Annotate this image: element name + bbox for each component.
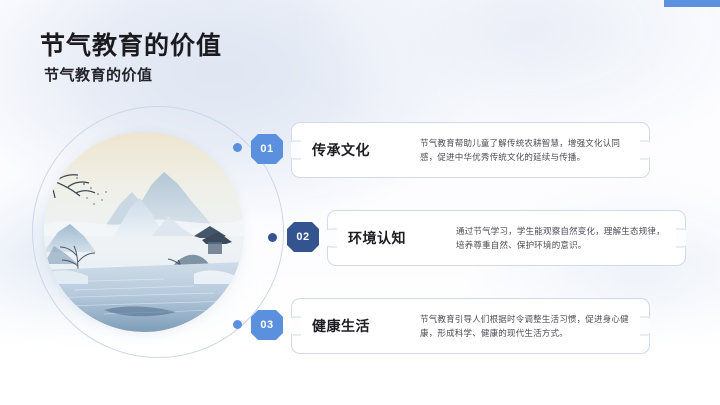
item-number-badge-01: 01 xyxy=(251,134,283,164)
connector-dot-03 xyxy=(233,320,242,329)
value-card-huanjing-renzhi[interactable]: 环境认知通过节气学习，学生能观察自然变化，理解生态规律，培养尊重自然、保护环境的… xyxy=(327,210,686,266)
value-card-chuancheng-wenhua[interactable]: 传承文化节气教育帮助儿童了解传统农耕智慧，增强文化认同感，促进中华优秀传统文化的… xyxy=(291,122,650,178)
value-card-body: 通过节气学习，学生能观察自然变化，理解生态规律，培养尊重自然、保护环境的意识。 xyxy=(456,224,668,252)
item-number-badge-02: 02 xyxy=(287,222,319,252)
value-card-body: 节气教育引导人们根据时令调整生活习惯，促进身心健康，形成科学、健康的现代生活方式… xyxy=(420,312,632,340)
cloud-wash-right xyxy=(420,150,720,405)
value-card-title: 环境认知 xyxy=(348,228,406,248)
page-title: 节气教育的价值 xyxy=(40,26,222,62)
slide-canvas: 节气教育的价值 节气教育的价值 xyxy=(0,0,720,405)
item-number-badge-03: 03 xyxy=(251,310,283,340)
connector-dot-01 xyxy=(233,143,242,152)
landscape-artwork-circle xyxy=(44,132,244,332)
value-card-title: 健康生活 xyxy=(312,316,370,336)
page-subtitle: 节气教育的价值 xyxy=(44,64,153,85)
connector-dot-02 xyxy=(268,233,277,242)
value-card-body: 节气教育帮助儿童了解传统农耕智慧，增强文化认同感，促进中华优秀传统文化的延续与传… xyxy=(420,136,632,164)
value-card-title: 传承文化 xyxy=(312,140,370,160)
value-card-jiankang-shenghuo[interactable]: 健康生活节气教育引导人们根据时令调整生活习惯，促进身心健康，形成科学、健康的现代… xyxy=(291,298,650,354)
accent-bar xyxy=(664,0,720,7)
